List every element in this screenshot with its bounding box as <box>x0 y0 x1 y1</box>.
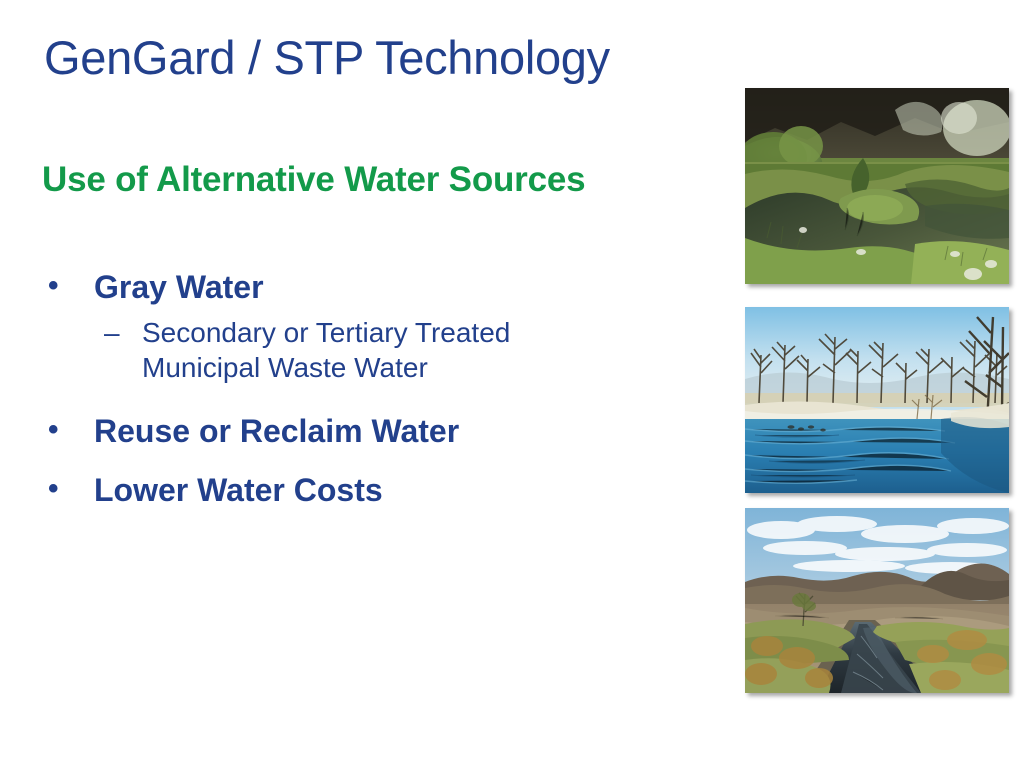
list-spacer <box>48 398 688 412</box>
creek-photo-graphic <box>745 88 1009 284</box>
bullet-marker-icon: • <box>48 471 94 508</box>
list-item-label: Reuse or Reclaim Water <box>94 412 688 451</box>
list-item: – Secondary or Tertiary Treated Municipa… <box>104 315 624 386</box>
dash-marker-icon: – <box>104 315 142 350</box>
list-item-label: Secondary or Tertiary Treated Municipal … <box>142 315 624 386</box>
page-title: GenGard / STP Technology <box>44 32 744 84</box>
winter-river-photo <box>745 307 1009 493</box>
list-item-label: Gray Water <box>94 268 688 307</box>
list-item-label: Lower Water Costs <box>94 471 688 510</box>
list-item: • Gray Water <box>48 268 688 307</box>
slide-canvas: GenGard / STP Technology Use of Alternat… <box>0 0 1020 765</box>
list-item: • Lower Water Costs <box>48 471 688 510</box>
creek-photo <box>745 88 1009 284</box>
bullet-list: • Gray Water – Secondary or Tertiary Tre… <box>48 268 688 516</box>
desert-canal-photo-graphic <box>745 508 1009 693</box>
bullet-marker-icon: • <box>48 412 94 449</box>
desert-canal-photo <box>745 508 1009 693</box>
bullet-marker-icon: • <box>48 268 94 305</box>
list-item: • Reuse or Reclaim Water <box>48 412 688 451</box>
list-spacer <box>48 457 688 471</box>
slide-subhead: Use of Alternative Water Sources <box>42 160 585 200</box>
winter-river-photo-graphic <box>745 307 1009 493</box>
